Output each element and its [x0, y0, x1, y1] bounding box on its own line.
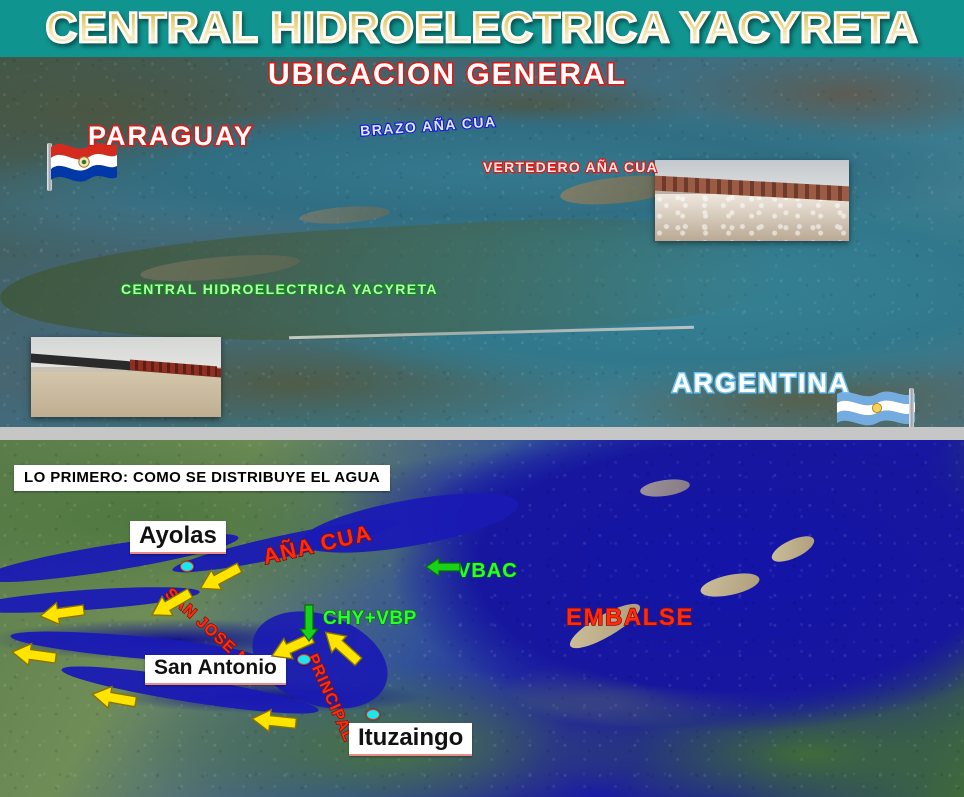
flow-arrow-icon	[249, 704, 300, 739]
feature-label-central-hidroelectrica: CENTRAL HIDROELECTRICA YACYRETA	[121, 282, 438, 296]
flag-pole	[909, 388, 914, 427]
feature-label-vertedero-ana-cua: VERTEDERO AÑA CUA	[483, 160, 658, 174]
discharge-label-vbac: VBAC	[457, 561, 518, 581]
channel-label-embalse: EMBALSE	[566, 606, 694, 630]
photo-foam	[655, 194, 849, 241]
distribucion-del-agua-map	[0, 440, 964, 797]
poster-title-bar: CENTRAL HIDROELECTRICA YACYRETA	[0, 0, 964, 57]
flow-arrow-icon	[8, 637, 60, 673]
map-heading-ubicacion-general: UBICACION GENERAL	[268, 60, 627, 90]
photo-water	[31, 372, 221, 417]
banner-distribucion: LO PRIMERO: COMO SE DISTRIBUYE EL AGUA	[14, 465, 390, 491]
country-label-argentina: ARGENTINA	[672, 370, 851, 397]
country-label-paraguay: PARAGUAY	[88, 123, 254, 150]
panel-divider	[0, 427, 964, 440]
city-marker-ayolas	[180, 561, 194, 572]
powerhouse-inset-photo	[31, 337, 221, 417]
vbac-arrow-icon	[424, 555, 462, 579]
city-marker-ituzaingo	[366, 709, 380, 720]
place-label-san-antonio: San Antonio	[145, 655, 286, 685]
page-title: CENTRAL HIDROELECTRICA YACYRETA	[46, 4, 919, 53]
place-label-ayolas: Ayolas	[130, 521, 226, 554]
spillway-inset-photo	[655, 160, 849, 241]
chy-vbp-arrow-icon	[297, 603, 321, 643]
poster-root: CENTRAL HIDROELECTRICA YACYRETA	[0, 0, 964, 797]
place-label-ituzaingo: Ituzaingo	[349, 723, 472, 756]
